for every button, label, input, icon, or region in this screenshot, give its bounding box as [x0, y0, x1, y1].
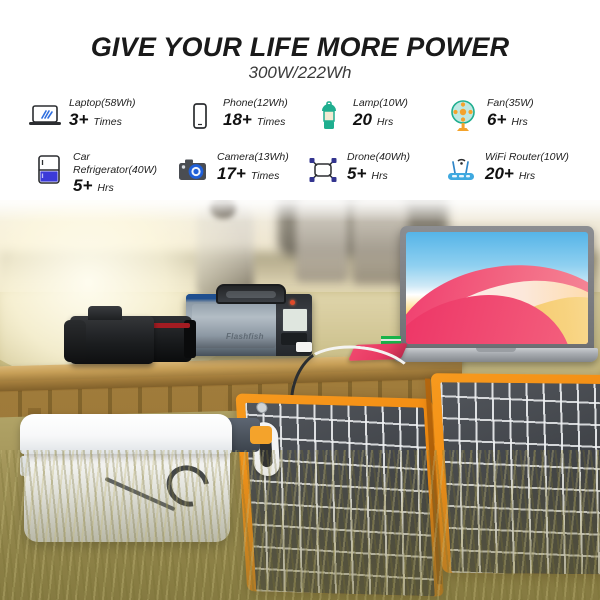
router-icon — [444, 153, 478, 187]
device-value: 5+ — [73, 177, 92, 195]
device-name: Drone(40Wh) — [347, 151, 410, 164]
power-station-handle — [216, 284, 286, 304]
device-value: 3+ — [69, 111, 88, 129]
power-station: Flashfish — [186, 284, 312, 356]
device-value: 18+ — [223, 111, 252, 129]
dslr-camera — [60, 302, 184, 364]
value-line: 5+ Hrs — [73, 177, 165, 195]
spec-item-lamp: Lamp(10W) 20 Hrs — [312, 96, 408, 133]
cable-plug — [296, 342, 312, 352]
device-value: 20 — [353, 111, 372, 129]
laptop-notch — [476, 348, 516, 352]
laptop-screen — [406, 232, 588, 344]
spec-item-wifi-router: WiFi Router(10W) 20+ Hrs — [444, 150, 569, 187]
refrigerator-icon — [32, 153, 66, 187]
foreground-grass — [0, 450, 600, 600]
spec-row: Car Refrigerator(40W) 5+ Hrs — [0, 150, 600, 204]
value-line: 20 Hrs — [353, 111, 408, 129]
brand-logo: Flashfish — [226, 332, 264, 341]
fan-icon — [446, 99, 480, 133]
device-name: Laptop(58Wh) — [69, 97, 136, 110]
device-unit: Hrs — [377, 116, 393, 128]
spec-item-drone: Drone(40Wh) 5+ Hrs — [306, 150, 410, 187]
page-title: GIVE YOUR LIFE MORE POWER — [0, 32, 600, 63]
value-line: 20+ Hrs — [485, 165, 569, 183]
device-unit: Hrs — [97, 182, 113, 194]
device-unit: Hrs — [511, 116, 527, 128]
device-unit: Hrs — [371, 170, 387, 182]
product-infographic: GIVE YOUR LIFE MORE POWER 300W/222Wh — [0, 0, 600, 600]
value-line: 18+ Times — [223, 111, 288, 129]
spec-text: Car Refrigerator(40W) 5+ Hrs — [73, 150, 165, 195]
laptop-icon — [28, 99, 62, 133]
device-name: Phone(12Wh) — [223, 97, 288, 110]
spec-text: Lamp(10W) 20 Hrs — [353, 96, 408, 129]
device-value: 6+ — [487, 111, 506, 129]
device-value: 20+ — [485, 165, 514, 183]
camera-viewfinder — [88, 306, 122, 320]
device-name: Fan(35W) — [487, 97, 534, 110]
phone-icon — [182, 99, 216, 133]
value-line: 3+ Times — [69, 111, 136, 129]
device-unit: Times — [257, 116, 286, 128]
device-unit: Times — [93, 116, 122, 128]
product-photo-scene: Flashfish — [0, 196, 600, 600]
panel-eyelet — [256, 402, 268, 413]
spec-item-phone: Phone(12Wh) 18+ Times — [182, 96, 288, 133]
device-name: Camera(13Wh) — [217, 151, 289, 164]
spec-grid: Laptop(58Wh) 3+ Times — [0, 96, 600, 204]
power-indicator-led — [290, 300, 295, 305]
spec-item-camera: Camera(13Wh) 17+ Times — [176, 150, 289, 187]
value-line: 5+ Hrs — [347, 165, 410, 183]
device-unit: Hrs — [519, 170, 535, 182]
spec-text: Camera(13Wh) 17+ Times — [217, 150, 289, 183]
spec-text: Laptop(58Wh) 3+ Times — [69, 96, 136, 129]
device-value: 5+ — [347, 165, 366, 183]
spec-item-car-refrigerator: Car Refrigerator(40W) 5+ Hrs — [32, 150, 165, 195]
spec-text: Drone(40Wh) 5+ Hrs — [347, 150, 410, 183]
camera-grip — [64, 320, 86, 362]
laptop — [392, 226, 598, 376]
spec-item-fan: Fan(35W) 6+ Hrs — [446, 96, 534, 133]
spec-text: Fan(35W) 6+ Hrs — [487, 96, 534, 129]
device-name: Car Refrigerator(40W) — [73, 151, 165, 176]
header: GIVE YOUR LIFE MORE POWER 300W/222Wh — [0, 0, 600, 200]
refrigerator-lid — [20, 414, 232, 454]
power-station-face-panel — [192, 304, 276, 348]
device-unit: Times — [251, 170, 280, 182]
page-subtitle: 300W/222Wh — [0, 63, 600, 83]
refrigerator-accent — [250, 426, 272, 444]
laptop-lid — [400, 226, 594, 350]
power-station-display — [282, 308, 308, 332]
device-value: 17+ — [217, 165, 246, 183]
device-name: WiFi Router(10W) — [485, 151, 569, 164]
spec-text: WiFi Router(10W) 20+ Hrs — [485, 150, 569, 183]
value-line: 17+ Times — [217, 165, 289, 183]
device-name: Lamp(10W) — [353, 97, 408, 110]
spec-item-laptop: Laptop(58Wh) 3+ Times — [28, 96, 136, 133]
spec-text: Phone(12Wh) 18+ Times — [223, 96, 288, 129]
lamp-icon — [312, 99, 346, 133]
camera-icon — [176, 153, 210, 187]
drone-icon — [306, 153, 340, 187]
spec-row: Laptop(58Wh) 3+ Times — [0, 96, 600, 150]
value-line: 6+ Hrs — [487, 111, 534, 129]
